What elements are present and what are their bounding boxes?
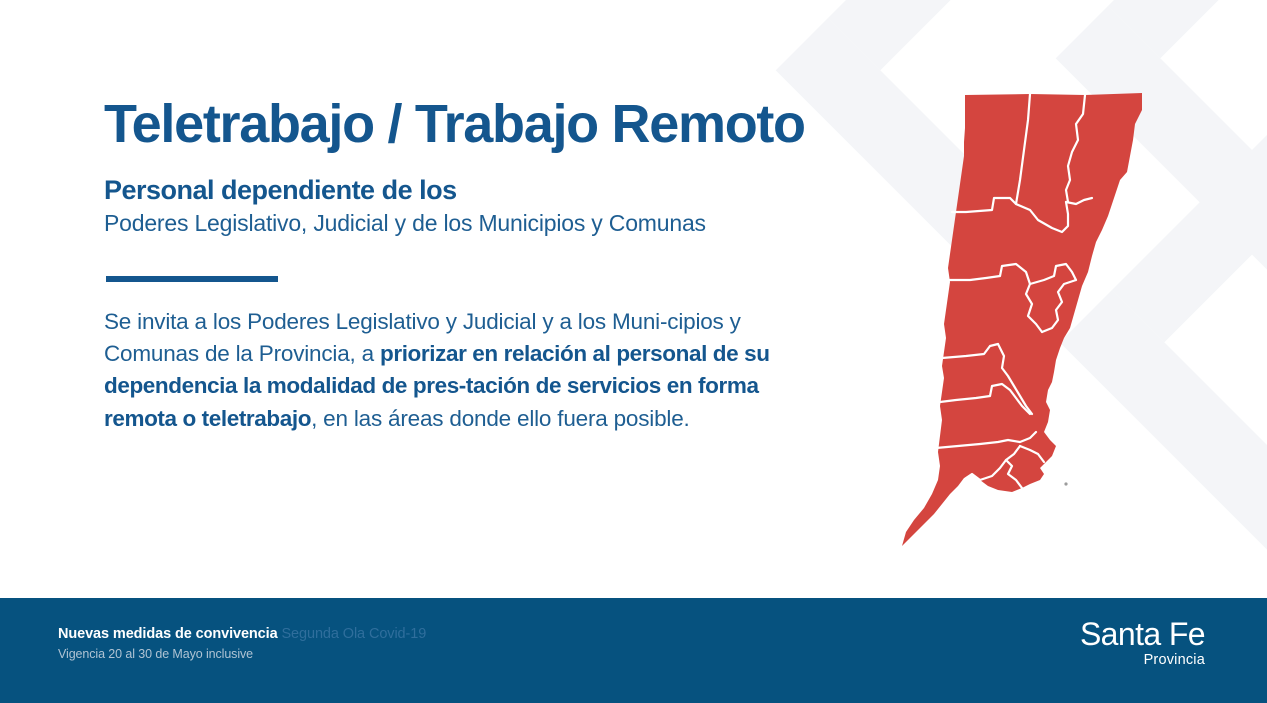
santa-fe-logo: Santa Fe Provincia (1080, 618, 1205, 668)
santa-fe-map (880, 80, 1170, 570)
content-column: Teletrabajo / Trabajo Remoto Personal de… (104, 96, 894, 435)
map-departments (902, 93, 1142, 546)
body-text-part2: , en las áreas donde ello fuera posible. (311, 406, 690, 431)
logo-title: Santa Fe (1080, 618, 1205, 650)
chevron-decoration-icon (1108, 0, 1267, 58)
footer-validity: Vigencia 20 al 30 de Mayo inclusive (58, 647, 426, 661)
santa-fe-map-svg (880, 80, 1170, 570)
page-title: Teletrabajo / Trabajo Remoto (104, 96, 894, 153)
footer-title-bold: Nuevas medidas de convivencia (58, 626, 278, 642)
slide-root: Teletrabajo / Trabajo Remoto Personal de… (0, 0, 1267, 703)
chevron-decoration-icon (828, 0, 1107, 70)
subtitle-secondary: Poderes Legislativo, Judicial y de los M… (104, 210, 894, 238)
logo-subtitle: Provincia (1080, 653, 1205, 668)
footer-bar: Nuevas medidas de convivencia Segunda Ol… (0, 598, 1267, 703)
map-dot-marker (1064, 482, 1067, 485)
footer-title-light: Segunda Ola Covid-19 (278, 626, 427, 642)
footer-text-group: Nuevas medidas de convivencia Segunda Ol… (58, 625, 426, 661)
body-paragraph: Se invita a los Poderes Legislativo y Ju… (104, 306, 804, 436)
subtitle-primary: Personal dependiente de los (104, 175, 894, 205)
divider (106, 276, 278, 282)
footer-title: Nuevas medidas de convivencia Segunda Ol… (58, 625, 426, 643)
